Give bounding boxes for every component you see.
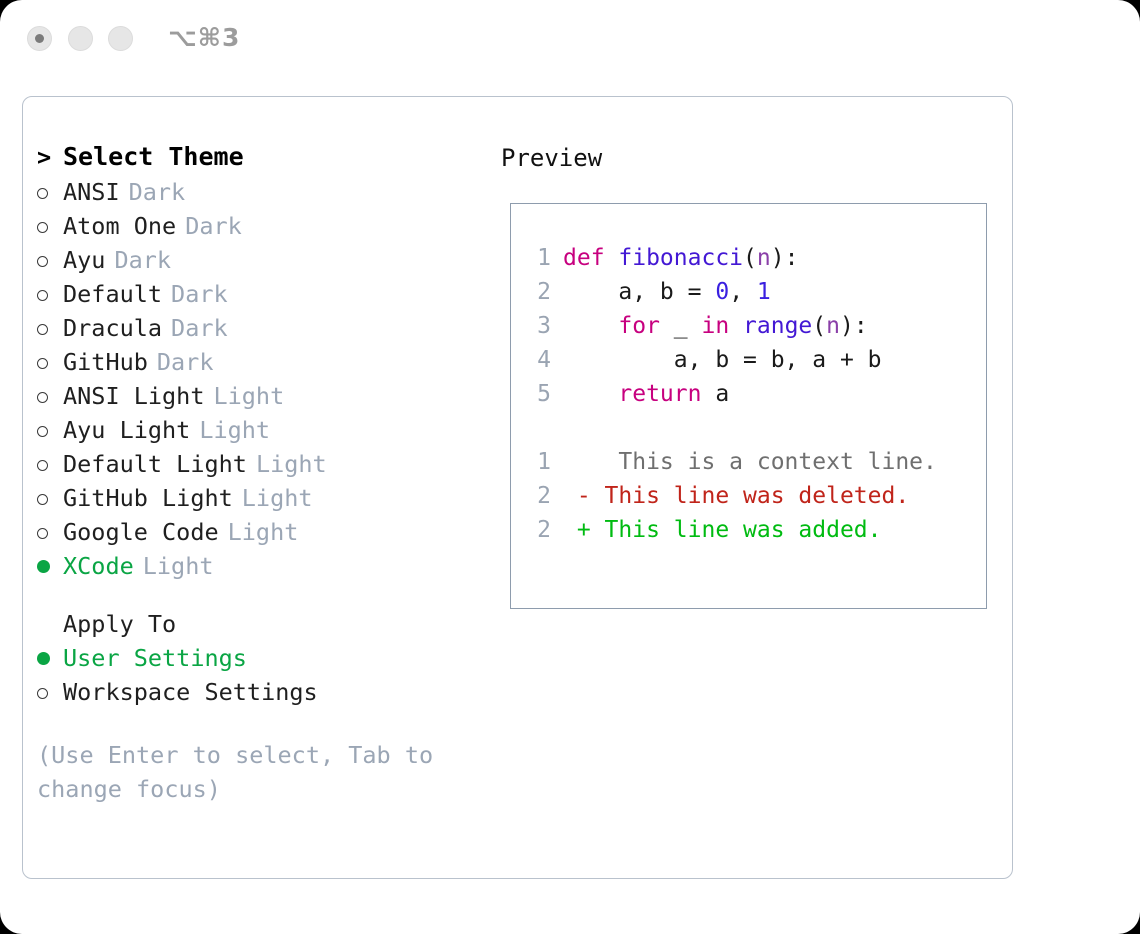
code-line: 5 return a [529,377,937,411]
theme-list-item[interactable]: DraculaDark [37,314,477,348]
code-token: 0 [715,279,729,305]
radio-unselected-icon [37,521,63,545]
theme-selector-column: > Select Theme ANSIDarkAtom OneDarkAyuDa… [37,142,477,806]
theme-list-item[interactable]: GitHubDark [37,348,477,382]
code-token: for [618,313,660,339]
code-token: def [563,245,618,271]
radio-unselected-icon [37,283,63,307]
code-token: , [729,279,757,305]
theme-name: Default [63,280,162,308]
code-token: ( [743,245,757,271]
section-spacer [37,586,477,610]
preview-box: 1def fibonacci(n):2 a, b = 0, 13 for _ i… [510,203,987,609]
theme-list-item[interactable]: ANSI LightLight [37,382,477,416]
code-token [729,313,743,339]
line-number: 5 [529,377,551,411]
theme-name: ANSI Light [63,382,204,410]
radio-unselected-icon [37,385,63,409]
theme-variant-badge: Light [256,450,327,478]
caret-marker-icon: > [37,146,63,170]
theme-list-item[interactable]: Atom OneDark [37,212,477,246]
keyboard-hint-text: (Use Enter to select, Tab to change focu… [37,738,437,806]
code-token: fibonacci [618,245,743,271]
diff-text: + This line was added. [563,517,882,543]
line-number: 3 [529,309,551,343]
theme-list-item[interactable]: Default LightLight [37,450,477,484]
theme-variant-badge: Light [213,382,284,410]
theme-selector-header: > Select Theme [37,142,477,178]
diff-text: - This line was deleted. [563,483,909,509]
preview-heading: Preview [501,144,602,172]
radio-unselected-icon [37,181,63,205]
theme-name: ANSI [63,178,120,206]
radio-unselected-icon [37,351,63,375]
theme-list-item[interactable]: Google CodeLight [37,518,477,552]
line-number: 2 [529,275,551,309]
code-token: n [757,245,771,271]
theme-list-item[interactable]: AyuDark [37,246,477,280]
theme-variant-badge: Light [242,484,313,512]
theme-variant-badge: Dark [171,314,228,342]
theme-list-item[interactable]: ANSIDark [37,178,477,212]
theme-name: Default Light [63,450,247,478]
line-number: 2 [529,513,551,547]
code-token: ): [840,313,868,339]
radio-selected-icon [37,647,63,671]
theme-variant-badge: Dark [114,246,171,274]
preview-code: 1def fibonacci(n):2 a, b = 0, 13 for _ i… [529,241,937,547]
theme-variant-badge: Light [228,518,299,546]
theme-list-item[interactable]: DefaultDark [37,280,477,314]
code-token [563,313,618,339]
theme-list-item[interactable]: XCodeLight [37,552,477,586]
diff-line: 1 This is a context line. [529,445,937,479]
theme-name: Google Code [63,518,219,546]
theme-variant-badge: Light [199,416,270,444]
radio-unselected-icon [37,317,63,341]
radio-unselected-icon [37,487,63,511]
apply-to-option[interactable]: User Settings [37,644,477,678]
theme-variant-badge: Dark [171,280,228,308]
code-token: n [826,313,840,339]
keyboard-shortcut-label: ⌥⌘3 [168,23,240,52]
diff-line: 2 + This line was added. [529,513,937,547]
theme-name: GitHub [63,348,148,376]
theme-list-item[interactable]: Ayu LightLight [37,416,477,450]
radio-unselected-icon [37,215,63,239]
code-token: a [701,381,729,407]
minimize-button[interactable] [68,26,93,51]
code-line: 1def fibonacci(n): [529,241,937,275]
code-token: ( [812,313,826,339]
radio-unselected-icon [37,453,63,477]
code-token: in [701,313,729,339]
record-dot-icon [35,34,44,43]
line-number: 1 [529,241,551,275]
line-number: 4 [529,343,551,377]
code-token: ): [771,245,799,271]
theme-variant-badge: Dark [157,348,214,376]
apply-to-option-label: Workspace Settings [63,678,318,706]
code-token: 1 [757,279,771,305]
theme-list: ANSIDarkAtom OneDarkAyuDarkDefaultDarkDr… [37,178,477,586]
page-title: Select Theme [63,142,244,171]
radio-unselected-icon [37,419,63,443]
theme-variant-badge: Dark [185,212,242,240]
theme-name: Ayu [63,246,105,274]
theme-name: Dracula [63,314,162,342]
app-window: ⌥⌘3 > Select Theme ANSIDarkAtom OneDarkA… [0,0,1140,934]
line-number: 2 [529,479,551,513]
theme-name: XCode [63,552,134,580]
code-line: 4 a, b = b, a + b [529,343,937,377]
radio-selected-icon [37,555,63,579]
code-token: a, b = [563,279,715,305]
theme-name: Atom One [63,212,176,240]
theme-name: GitHub Light [63,484,233,512]
theme-variant-badge: Dark [129,178,186,206]
title-bar: ⌥⌘3 [0,0,1140,80]
code-token [563,381,618,407]
diff-text: This is a context line. [563,449,937,475]
main-panel: > Select Theme ANSIDarkAtom OneDarkAyuDa… [22,96,1013,879]
code-token: _ [660,313,702,339]
radio-unselected-icon [37,249,63,273]
apply-to-option[interactable]: Workspace Settings [37,678,477,712]
code-token: return [618,381,701,407]
theme-list-item[interactable]: GitHub LightLight [37,484,477,518]
diff-line: 2 - This line was deleted. [529,479,937,513]
code-token: a, b = b, a + b [563,347,882,373]
code-line: 2 a, b = 0, 1 [529,275,937,309]
record-button[interactable] [27,26,52,51]
theme-variant-badge: Light [143,552,214,580]
maximize-button[interactable] [108,26,133,51]
line-number: 1 [529,445,551,479]
apply-to-list: User SettingsWorkspace Settings [37,644,477,712]
code-blank-line [529,411,937,445]
apply-to-option-label: User Settings [63,644,247,672]
code-token: range [743,313,812,339]
code-line: 3 for _ in range(n): [529,309,937,343]
theme-name: Ayu Light [63,416,190,444]
apply-to-label: Apply To [37,610,477,644]
radio-unselected-icon [37,681,63,705]
